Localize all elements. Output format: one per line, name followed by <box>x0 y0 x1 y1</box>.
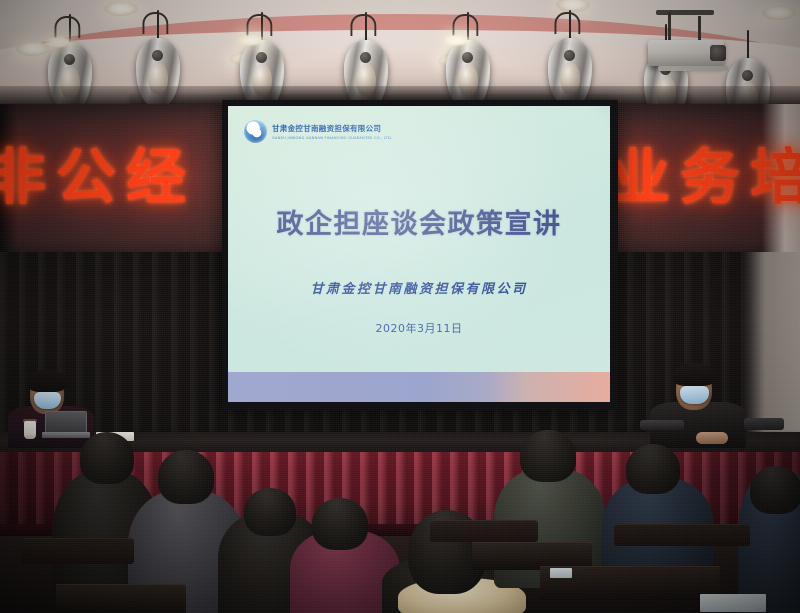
slide-logo-words: 甘肃金控甘南融资担保有限公司 GANSU JINKONG GANNAN FINA… <box>272 123 392 140</box>
spotlight-knob <box>564 50 575 61</box>
downlight-icon <box>762 6 796 20</box>
microphone-icon <box>744 418 784 430</box>
spotlight-arm <box>452 14 478 36</box>
screen-glare <box>228 106 610 402</box>
spotlight-arm <box>350 14 376 36</box>
papers-on-desk <box>700 594 766 612</box>
projector-mount-rod <box>668 12 671 40</box>
slide-logo: 甘肃金控甘南融资担保有限公司 GANSU JINKONG GANNAN FINA… <box>244 120 392 143</box>
led-banner-text-right: 业务培 <box>610 148 800 208</box>
spotlight-glow <box>238 34 264 46</box>
spotlight-arm <box>554 12 580 34</box>
slide-subtitle: 甘肃金控甘南融资担保有限公司 <box>228 278 610 297</box>
ceiling-projector-icon <box>648 36 734 70</box>
slide-title: 政企担座谈会政策宣讲 <box>228 202 610 241</box>
desk <box>56 584 186 613</box>
spotlight-glow <box>46 36 72 48</box>
spotlight-knob <box>256 52 267 63</box>
spotlight-arm <box>246 14 272 36</box>
papers-on-desk <box>550 568 572 578</box>
presenter-right-hair <box>673 363 715 386</box>
audience-member-head <box>520 430 576 482</box>
audience-member-head <box>626 444 680 494</box>
chair-back <box>22 538 134 564</box>
projection-screen: 甘肃金控甘南融资担保有限公司 GANSU JINKONG GANNAN FINA… <box>228 106 610 402</box>
photo-scene: 非公经 业务培 甘肃金控甘南融资担保有限公司 GANSU JINKONG GAN… <box>0 0 800 613</box>
slide-date: 2020年3月11日 <box>228 320 610 336</box>
face-mask-icon <box>680 386 709 404</box>
spotlight-arm <box>54 16 80 38</box>
chair-back <box>614 524 750 546</box>
spotlight-knob <box>152 50 163 61</box>
audience-member-head <box>80 432 134 484</box>
audience-member-head <box>158 450 214 504</box>
slide-logo-cn: 甘肃金控甘南融资担保有限公司 <box>272 123 392 134</box>
spotlight-arm <box>142 12 168 34</box>
microphone-icon <box>640 420 684 430</box>
spotlight-knob <box>64 54 75 65</box>
projector-mount-rod <box>698 16 701 40</box>
audience-member-head <box>750 466 800 514</box>
projector-bracket <box>658 66 728 71</box>
laptop-lid <box>45 411 87 433</box>
downlight-icon <box>16 42 50 56</box>
led-banner-text-left: 非公经 <box>0 148 196 208</box>
laptop-icon <box>42 411 90 439</box>
face-mask-icon <box>34 392 61 409</box>
laptop-base <box>42 432 90 438</box>
projector-lens <box>710 45 726 61</box>
spotlight-knob <box>360 52 371 63</box>
slide-logo-en: GANSU JINKONG GANNAN FINANCING GUARANTEE… <box>272 136 392 140</box>
chair-back <box>430 520 538 542</box>
company-logo-icon <box>244 120 267 143</box>
slide-accent-band-pink <box>494 372 610 402</box>
spotlight-glow <box>444 34 470 46</box>
audience-member-head <box>244 488 296 536</box>
spotlight-knob <box>462 52 473 63</box>
downlight-icon <box>556 0 590 12</box>
paper-cup-icon <box>24 421 36 439</box>
spotlight-cable <box>747 30 749 60</box>
downlight-icon <box>104 2 138 16</box>
presenter-right-hands <box>696 432 728 444</box>
projector-mount-plate <box>656 10 714 15</box>
spotlight-knob <box>742 70 753 81</box>
presenter-left-hair <box>28 370 66 392</box>
audience-member-head <box>312 498 368 550</box>
